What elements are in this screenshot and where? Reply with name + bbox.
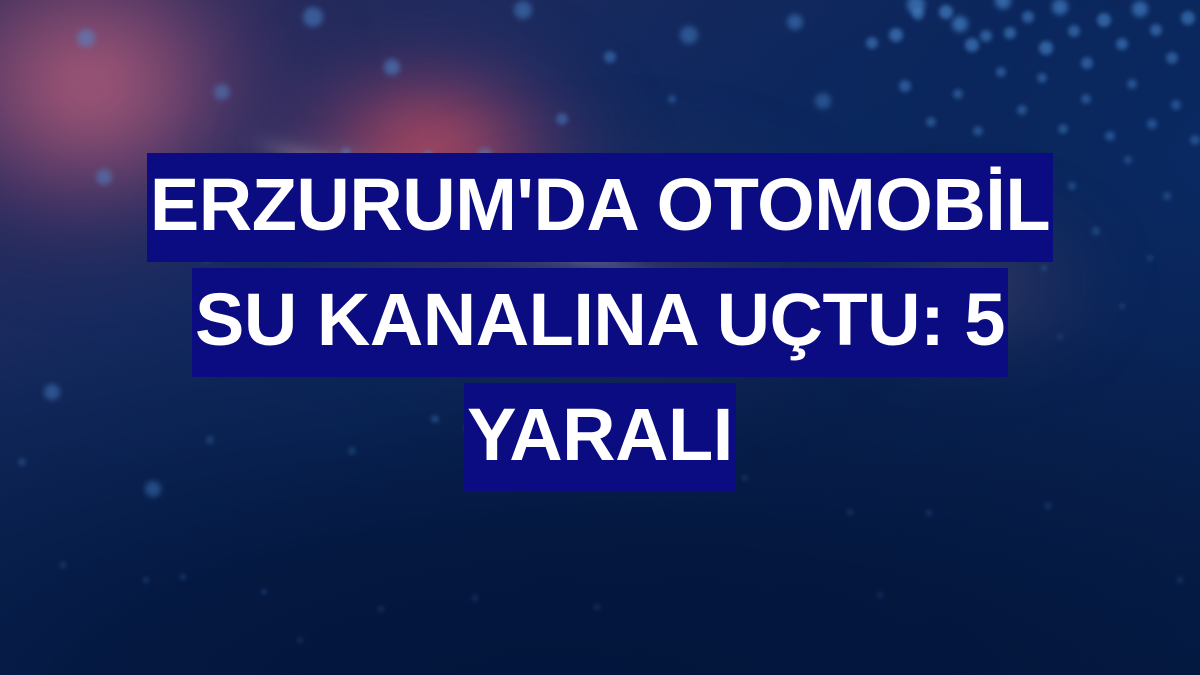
headline-line-1-text: ERZURUM'DA OTOMOBİL — [147, 153, 1053, 262]
headline-line-3-text: YARALI — [464, 383, 736, 492]
headline-line-1: ERZURUM'DA OTOMOBİL — [0, 168, 1200, 226]
headline-line-2-text: SU KANALINA UÇTU: 5 — [192, 268, 1008, 377]
headline-block: ERZURUM'DA OTOMOBİL SU KANALINA UÇTU: 5 … — [0, 168, 1200, 456]
headline-line-3: YARALI — [0, 398, 1200, 456]
news-headline-card: ERZURUM'DA OTOMOBİL SU KANALINA UÇTU: 5 … — [0, 0, 1200, 675]
headline-line-2: SU KANALINA UÇTU: 5 — [0, 283, 1200, 341]
